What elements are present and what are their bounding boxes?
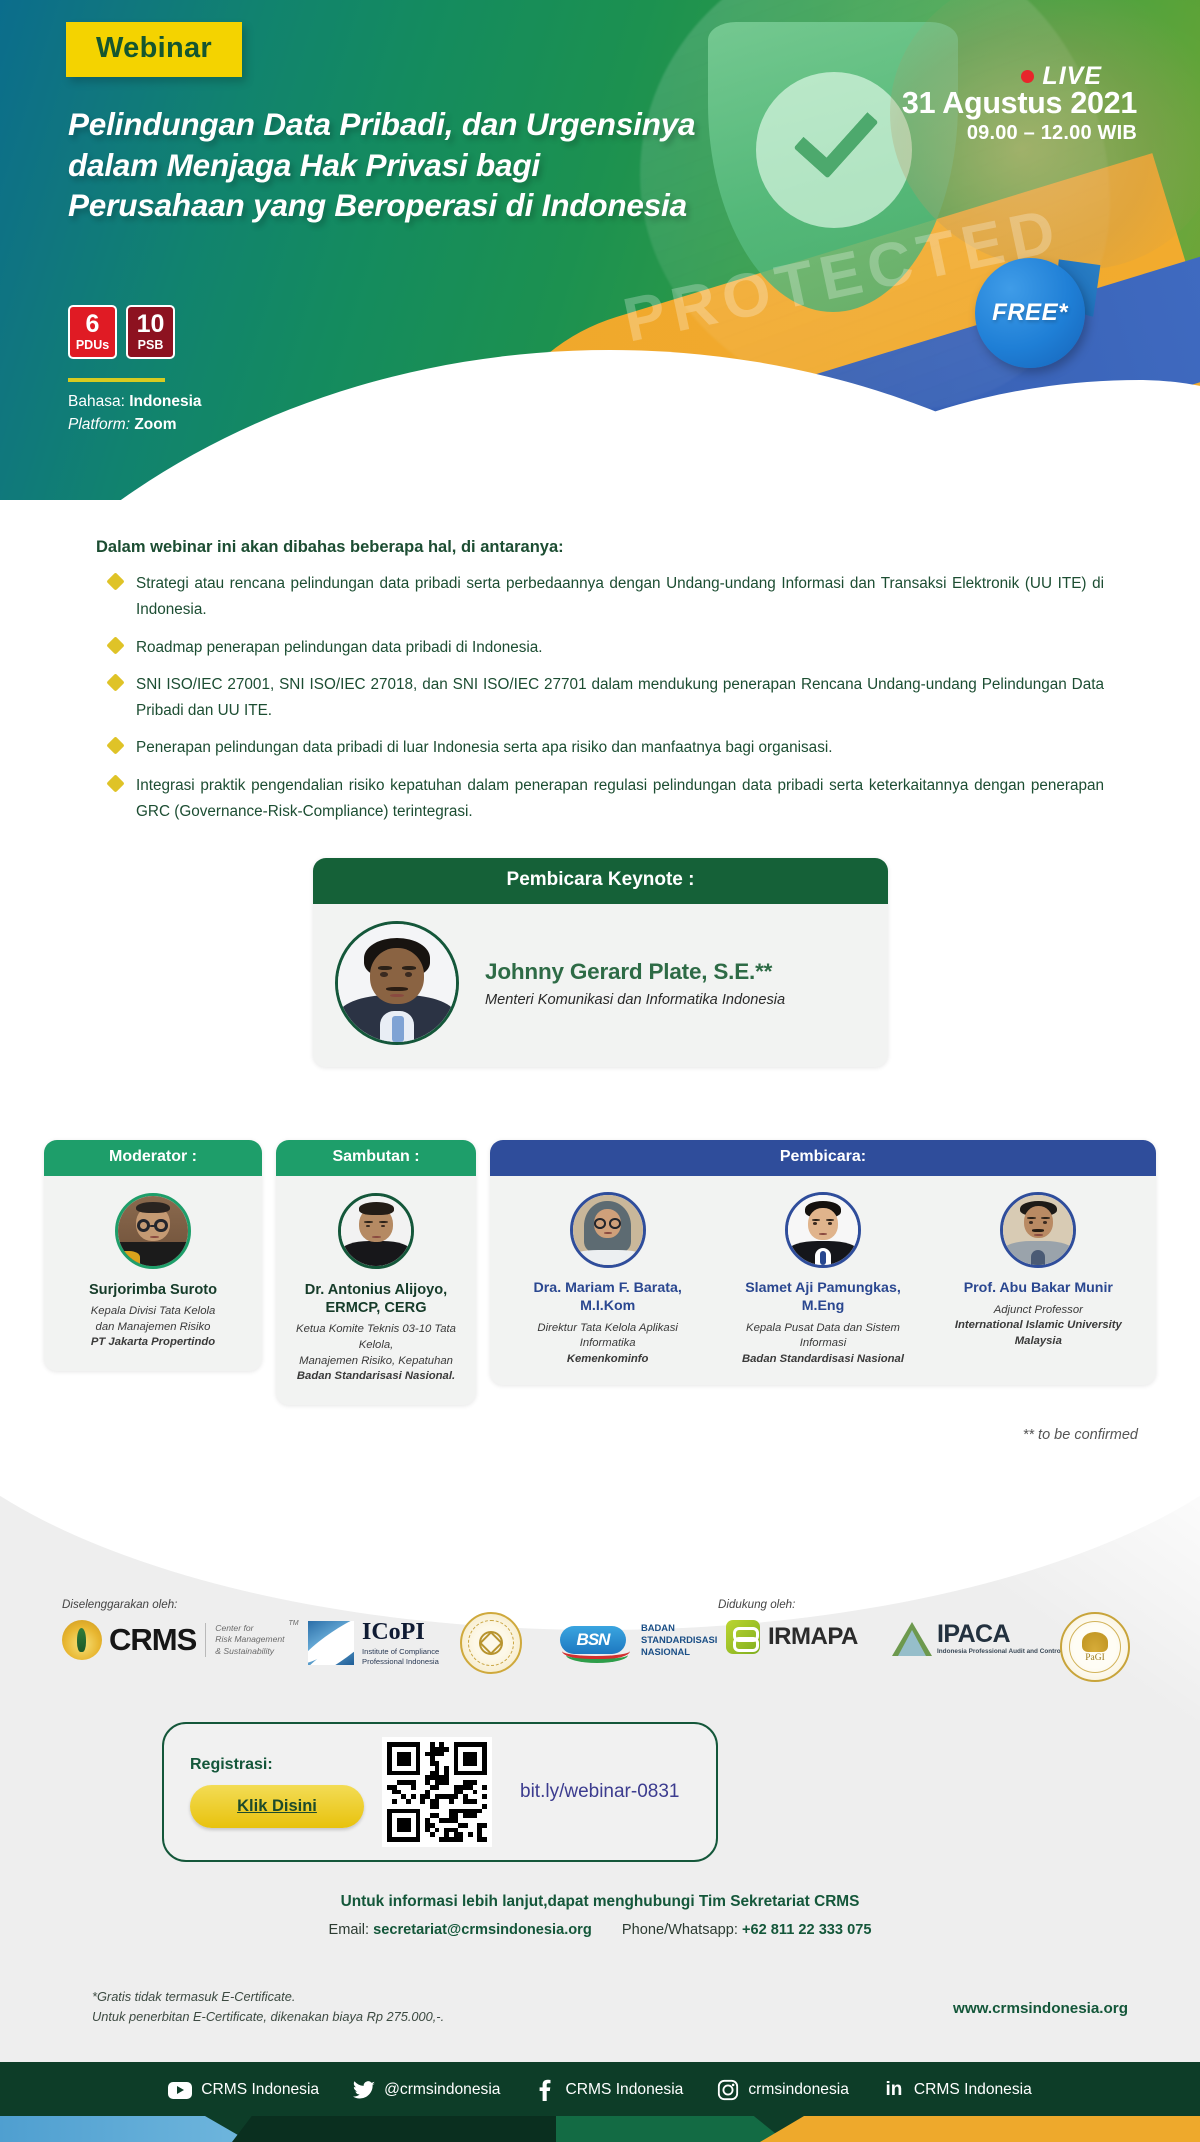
icopi-text: ICoPI Institute of Compliance Profession… [362, 1620, 439, 1667]
bsn-name-3: NASIONAL [641, 1646, 690, 1657]
pagi-seal-icon: PaGI [1060, 1612, 1130, 1682]
keynote-bar-label: Pembicara Keynote : [313, 858, 888, 904]
keynote-role: Menteri Komunikasi dan Informatika Indon… [485, 992, 785, 1008]
speaker-org: International Islamic University Malaysi… [955, 1319, 1122, 1347]
diamond-bullet-icon [106, 572, 124, 590]
platform-label: Platform: [68, 416, 130, 433]
pdu-value: 6 [86, 312, 100, 337]
icopi-tagline: Institute of Compliance Professional Ind… [362, 1647, 439, 1666]
speaker-portrait-3 [1003, 1195, 1073, 1265]
footer-shape-dark [232, 2116, 562, 2142]
linkedin-handle: CRMS Indonesia [914, 2081, 1032, 2099]
agenda-item-text: Roadmap penerapan pelindungan data priba… [136, 635, 543, 661]
social-item-youtube[interactable]: CRMS Indonesia [168, 2081, 319, 2099]
webinar-badge: Webinar [66, 22, 242, 77]
sambutan-role-line-1: Ketua Komite Teknis 03-10 Tata Kelola, [296, 1323, 456, 1351]
platform-row: Platform: Zoom [68, 413, 202, 436]
moderator-org: PT Jakarta Propertindo [91, 1336, 215, 1348]
avatar [570, 1192, 646, 1268]
crms-tagline-1: Center for [215, 1623, 253, 1633]
avatar [338, 1193, 414, 1269]
speaker-role: Adjunct Professor International Islamic … [946, 1303, 1131, 1350]
icopi-wordmark: ICoPI [362, 1620, 439, 1645]
phone-value[interactable]: +62 811 22 333 075 [742, 1922, 871, 1938]
bsn-abbr: BSN [577, 1630, 610, 1650]
irmapa-mark-icon [726, 1620, 760, 1654]
keynote-name: Johnny Gerard Plate, S.E.** [485, 959, 785, 985]
list-item: Integrasi praktik pengendalian risiko ke… [96, 773, 1104, 826]
pagi-wordmark: PaGI [1085, 1653, 1105, 1663]
agenda-heading: Dalam webinar ini akan dibahas beberapa … [96, 538, 1104, 557]
page-title: Pelindungan Data Pribadi, dan Urgensinya… [68, 104, 708, 226]
seal-core-icon [479, 1631, 503, 1655]
sambutan-org: Badan Standarisasi Nasional. [297, 1370, 455, 1382]
footer-shape-orange [760, 2116, 1200, 2142]
diamond-bullet-icon [106, 673, 124, 691]
moderator-role: Kepala Divisi Tata Kelola dan Manajemen … [58, 1304, 248, 1351]
list-item: Roadmap penerapan pelindungan data priba… [96, 635, 1104, 661]
moderator-role-line-1: Kepala Divisi Tata Kelola [91, 1305, 216, 1317]
bsn-oval: BSN [560, 1626, 626, 1654]
phone-label: Phone/Whatsapp: [622, 1922, 738, 1938]
sambutan-role: Ketua Komite Teknis 03-10 Tata Kelola, M… [290, 1322, 462, 1384]
registration-left: Registrasi: Klik Disini [164, 1756, 360, 1828]
social-footer: CRMS Indonesia @crmsindonesia CRMS Indon… [0, 2062, 1200, 2142]
pagi-logo: PaGI [1060, 1612, 1130, 1682]
pagi-leaf-icon [1082, 1632, 1108, 1652]
facebook-handle: CRMS Indonesia [565, 2081, 683, 2099]
agenda-item-text: Strategi atau rencana pelindungan data p… [136, 571, 1104, 624]
social-links-row: CRMS Indonesia @crmsindonesia CRMS Indon… [0, 2062, 1200, 2118]
psb-value: 10 [137, 312, 165, 337]
trademark-symbol: TM [288, 1619, 298, 1628]
social-item-instagram[interactable]: crmsindonesia [717, 2079, 849, 2101]
diamond-bullet-icon [106, 774, 124, 792]
sambutan-body: Dr. Antonius Alijoyo, ERMCP, CERG Ketua … [276, 1176, 476, 1405]
webinar-badge-label: Webinar [96, 32, 212, 64]
live-dot-icon [1021, 70, 1034, 83]
poster-header: PROTECTED Webinar Pelindungan Data Priba… [0, 0, 1200, 500]
header-divider [68, 378, 165, 382]
twitter-icon [353, 2079, 375, 2101]
moderator-body: Surjorimba Suroto Kepala Divisi Tata Kel… [44, 1176, 262, 1371]
qr-code[interactable] [382, 1737, 492, 1847]
crms-flame-icon [62, 1620, 102, 1660]
speaker-item: Dra. Mariam F. Barata, M.I.Kom Direktur … [515, 1192, 700, 1367]
speaker-role-line: Direktur Tata Kelola Aplikasi Informatik… [537, 1322, 677, 1350]
avatar [335, 921, 459, 1045]
email-value[interactable]: secretariat@crmsindonesia.org [373, 1922, 592, 1938]
sambutan-portrait [341, 1196, 411, 1266]
icopi-tagline-1: Institute of Compliance [362, 1647, 439, 1656]
registration-box: Registrasi: Klik Disini bit.ly/webinar-0… [162, 1722, 718, 1862]
bsn-mark-icon: BSN [560, 1620, 634, 1660]
pdu-badge: 6 PDUs [68, 305, 117, 359]
speaker-role-line: Kepala Pusat Data dan Sistem Informasi [746, 1322, 900, 1350]
diamond-bullet-icon [106, 737, 124, 755]
credit-badges: 6 PDUs 10 PSB [68, 305, 175, 359]
certificate-note: *Gratis tidak termasuk E-Certificate. Un… [92, 1987, 444, 2027]
avatar [1000, 1192, 1076, 1268]
speaker-org: Badan Standardisasi Nasional [742, 1353, 904, 1365]
youtube-handle: CRMS Indonesia [201, 2081, 319, 2099]
psb-unit: PSB [138, 339, 164, 352]
speaker-portrait-2 [788, 1195, 858, 1265]
pdu-unit: PDUs [76, 339, 109, 352]
seal-icon [460, 1612, 522, 1674]
avatar [785, 1192, 861, 1268]
footer-shape-blue [0, 2116, 250, 2142]
bsn-name-1: BADAN [641, 1622, 675, 1633]
register-button[interactable]: Klik Disini [190, 1785, 364, 1828]
free-badge: FREE* [975, 258, 1085, 368]
email-label: Email: [329, 1922, 370, 1938]
contact-details: Email: secretariat@crmsindonesia.org Pho… [0, 1922, 1200, 1938]
agenda-section: Dalam webinar ini akan dibahas beberapa … [0, 538, 1200, 836]
free-badge-label: FREE* [992, 299, 1068, 327]
crms-tagline-3: & Sustainability [215, 1646, 274, 1656]
icopi-tagline-2: Professional Indonesia [362, 1657, 439, 1666]
keynote-card: Pembicara Keynote : Johnny Gerard Plate,… [313, 858, 888, 1067]
irmapa-logo: IRMAPA [726, 1620, 858, 1654]
sambutan-card: Sambutan : Dr. Antonius Alijoyo, ERMCP, … [276, 1140, 476, 1405]
footer-decorative-shapes [0, 2116, 1200, 2142]
sambutan-name: Dr. Antonius Alijoyo, ERMCP, CERG [290, 1281, 462, 1317]
contact-heading: Untuk informasi lebih lanjut,dapat mengh… [0, 1893, 1200, 1911]
qr-code-grid [387, 1742, 487, 1842]
youtube-icon [168, 2082, 192, 2099]
twitter-handle: @crmsindonesia [384, 2081, 500, 2099]
speaker-portrait-1 [573, 1195, 643, 1265]
speakers-card: Pembicara: Dra. Mariam F. Barata, M.I.Ko… [490, 1140, 1156, 1385]
instagram-icon [717, 2079, 739, 2101]
diamond-bullet-icon [106, 636, 124, 654]
registration-label: Registrasi: [190, 1756, 360, 1774]
moderator-name: Surjorimba Suroto [58, 1281, 248, 1299]
list-item: SNI ISO/IEC 27001, SNI ISO/IEC 27018, da… [96, 672, 1104, 725]
irmapa-wordmark: IRMAPA [768, 1623, 858, 1651]
sambutan-bar-label: Sambutan : [276, 1140, 476, 1176]
bsn-logo: BSN BADAN STANDARDISASI NASIONAL [560, 1620, 717, 1660]
header-meta: Bahasa: Indonesia Platform: Zoom [68, 390, 202, 437]
social-item-twitter[interactable]: @crmsindonesia [353, 2079, 500, 2101]
moderator-role-line-2: dan Manajemen Risiko [96, 1321, 211, 1333]
certificate-note-line-2: Untuk penerbitan E-Certificate, dikenaka… [92, 2007, 444, 2027]
speaker-name: Slamet Aji Pamungkas, M.Eng [730, 1280, 915, 1316]
crms-tagline-2: Risk Management [215, 1634, 284, 1644]
event-date: 31 Agustus 2021 [902, 86, 1137, 121]
certification-seal-logo [460, 1612, 522, 1674]
sambutan-role-line-2: Manajemen Risiko, Kepatuhan [299, 1355, 453, 1367]
keynote-text: Johnny Gerard Plate, S.E.** Menteri Komu… [485, 959, 785, 1008]
crms-wordmark: CRMS [109, 1622, 196, 1658]
website-url[interactable]: www.crmsindonesia.org [953, 2000, 1128, 2017]
moderator-portrait [118, 1196, 188, 1266]
list-item: Strategi atau rencana pelindungan data p… [96, 571, 1104, 624]
social-item-linkedin[interactable]: in CRMS Indonesia [883, 2079, 1032, 2101]
footer-shape-green [556, 2116, 786, 2142]
event-time: 09.00 – 12.00 WIB [967, 122, 1137, 145]
organizer-caption: Diselenggarakan oleh: [62, 1598, 177, 1611]
speaker-name: Prof. Abu Bakar Munir [946, 1280, 1131, 1298]
speaker-role-line: Adjunct Professor [994, 1304, 1083, 1316]
ipaca-mark-icon [888, 1620, 932, 1656]
crms-tagline: TM Center for Risk Management & Sustaina… [215, 1623, 284, 1657]
agenda-item-text: SNI ISO/IEC 27001, SNI ISO/IEC 27018, da… [136, 672, 1104, 725]
platform-value: Zoom [134, 416, 176, 433]
speaker-item: Prof. Abu Bakar Munir Adjunct Professor … [946, 1192, 1131, 1367]
crms-logo: CRMS TM Center for Risk Management & Sus… [62, 1620, 285, 1660]
agenda-item-text: Penerapan pelindungan data pribadi di lu… [136, 735, 833, 761]
agenda-item-text: Integrasi praktik pengendalian risiko ke… [136, 773, 1104, 826]
panels-row: Moderator : Surjorimba Suroto Kepala Div… [0, 1140, 1200, 1405]
certificate-note-line-1: *Gratis tidak termasuk E-Certificate. [92, 1987, 444, 2007]
language-row: Bahasa: Indonesia [68, 390, 202, 413]
icopi-logo: ICoPI Institute of Compliance Profession… [308, 1620, 439, 1667]
instagram-handle: crmsindonesia [748, 2081, 849, 2099]
social-item-facebook[interactable]: CRMS Indonesia [534, 2079, 683, 2101]
to-be-confirmed-note: ** to be confirmed [1023, 1427, 1138, 1443]
divider [205, 1623, 206, 1657]
speaker-name: Dra. Mariam F. Barata, M.I.Kom [515, 1280, 700, 1316]
registration-url[interactable]: bit.ly/webinar-0831 [520, 1781, 679, 1803]
speakers-grid: Dra. Mariam F. Barata, M.I.Kom Direktur … [490, 1176, 1156, 1385]
moderator-card: Moderator : Surjorimba Suroto Kepala Div… [44, 1140, 262, 1371]
speaker-role: Direktur Tata Kelola Aplikasi Informatik… [515, 1321, 700, 1368]
language-label: Bahasa: [68, 393, 125, 410]
facebook-icon [534, 2079, 556, 2101]
speaker-item: Slamet Aji Pamungkas, M.Eng Kepala Pusat… [730, 1192, 915, 1367]
sponsor-logos-row: Diselenggarakan oleh: Didukung oleh: CRM… [0, 1590, 1200, 1700]
avatar [115, 1193, 191, 1269]
keynote-portrait [338, 924, 456, 1042]
supporter-caption: Didukung oleh: [718, 1598, 795, 1611]
list-item: Penerapan pelindungan data pribadi di lu… [96, 735, 1104, 761]
bsn-name-2: STANDARDISASI [641, 1634, 717, 1645]
language-value: Indonesia [129, 393, 201, 410]
linkedin-icon: in [883, 2079, 905, 2101]
keynote-body: Johnny Gerard Plate, S.E.** Menteri Komu… [313, 904, 888, 1067]
psb-badge: 10 PSB [126, 305, 175, 359]
speakers-bar-label: Pembicara: [490, 1140, 1156, 1176]
speaker-role: Kepala Pusat Data dan Sistem Informasi B… [730, 1321, 915, 1368]
moderator-bar-label: Moderator : [44, 1140, 262, 1176]
speaker-org: Kemenkominfo [567, 1353, 649, 1365]
icopi-mark-icon [308, 1621, 354, 1665]
bsn-name: BADAN STANDARDISASI NASIONAL [641, 1622, 717, 1657]
